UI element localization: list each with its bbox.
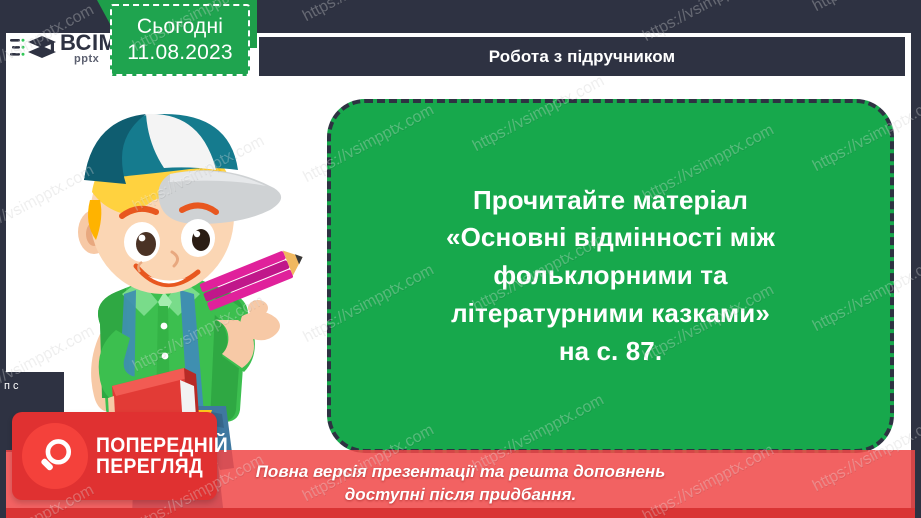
today-date: 11.08.2023 xyxy=(127,41,233,65)
content-panel-text: Прочитайте матеріал «Основні відмінності… xyxy=(412,182,809,370)
right-edge-rule xyxy=(913,33,916,518)
content-panel: Прочитайте матеріал «Основні відмінності… xyxy=(327,99,894,453)
banner-bottom-strip xyxy=(6,508,915,518)
purchase-notice-text: Повна версія презентації та решта доповн… xyxy=(256,461,666,507)
brand-logo-subtext: pptx xyxy=(60,54,117,64)
left-hidden-note-text: п с xyxy=(4,380,19,392)
preview-badge[interactable]: ПОПЕРЕДНІЙ ПЕРЕГЛЯД xyxy=(12,412,217,500)
today-date-badge: Сьогодні 11.08.2023 xyxy=(110,4,250,76)
magnifier-icon xyxy=(22,423,88,489)
slide-canvas: ВСІМ pptx Сьогодні 11.08.2023 Робота з п… xyxy=(0,0,921,518)
preview-badge-line1: ПОПЕРЕДНІЙ xyxy=(96,435,228,456)
slide-header-bar: Робота з підручником xyxy=(259,37,905,76)
slide-title: Робота з підручником xyxy=(489,47,675,67)
preview-badge-line2: ПЕРЕГЛЯД xyxy=(96,456,228,477)
today-label: Сьогодні xyxy=(137,15,223,39)
graduation-cap-logo-icon xyxy=(10,33,56,65)
brand-logo-text: ВСІМ xyxy=(60,33,117,54)
